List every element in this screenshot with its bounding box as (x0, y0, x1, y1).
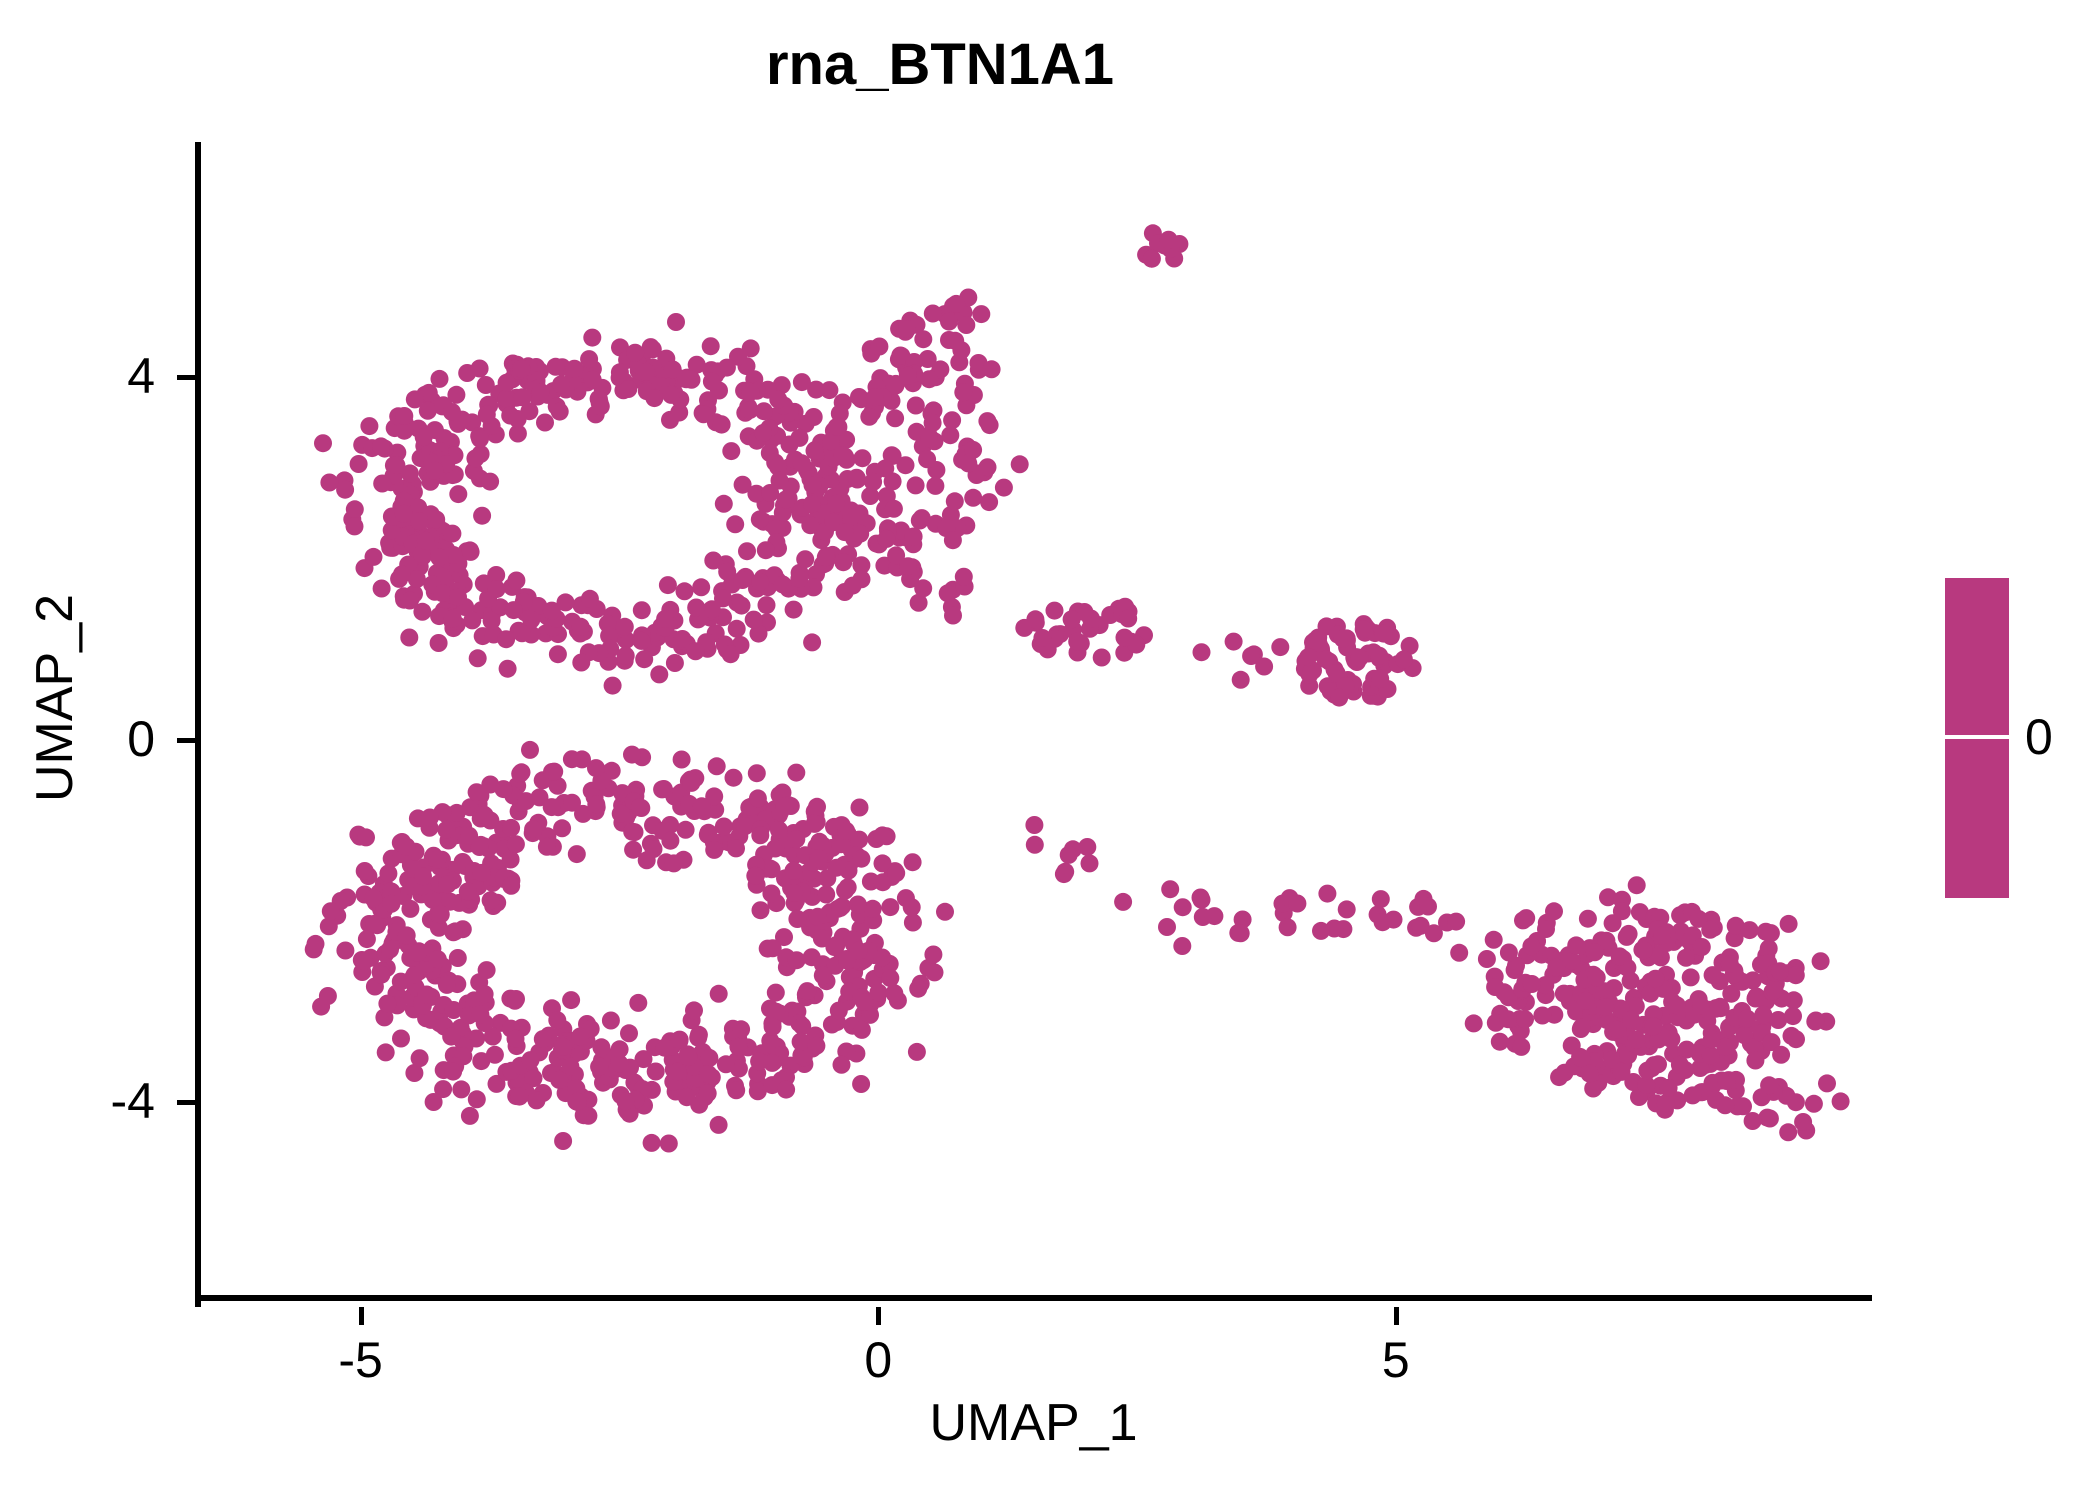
colorbar-tick-gap (1967, 733, 1987, 741)
x-tick-mark (1394, 1307, 1399, 1325)
colorbar-tick-label: 0 (2025, 709, 2053, 765)
y-tick-mark (177, 1100, 195, 1105)
y-axis-label: UMAP_2 (24, 348, 86, 1048)
y-tick-mark (177, 738, 195, 743)
x-tick-label: -5 (281, 1335, 441, 1385)
x-tick-mark (876, 1307, 881, 1325)
figure-root: rna_BTN1A1 40-4-505 UMAP_1 UMAP_2 0 (0, 0, 2100, 1500)
page-title: rna_BTN1A1 (0, 30, 1880, 100)
x-tick-mark (359, 1307, 364, 1325)
x-axis-label: UMAP_1 (195, 1392, 1872, 1454)
colorbar-legend: 0 (1945, 578, 2100, 903)
scatter-plot-points (195, 142, 1872, 1301)
x-tick-label: 5 (1316, 1335, 1476, 1385)
y-tick-label: -4 (15, 1076, 155, 1126)
y-tick-mark (177, 375, 195, 380)
x-tick-label: 0 (798, 1335, 958, 1385)
